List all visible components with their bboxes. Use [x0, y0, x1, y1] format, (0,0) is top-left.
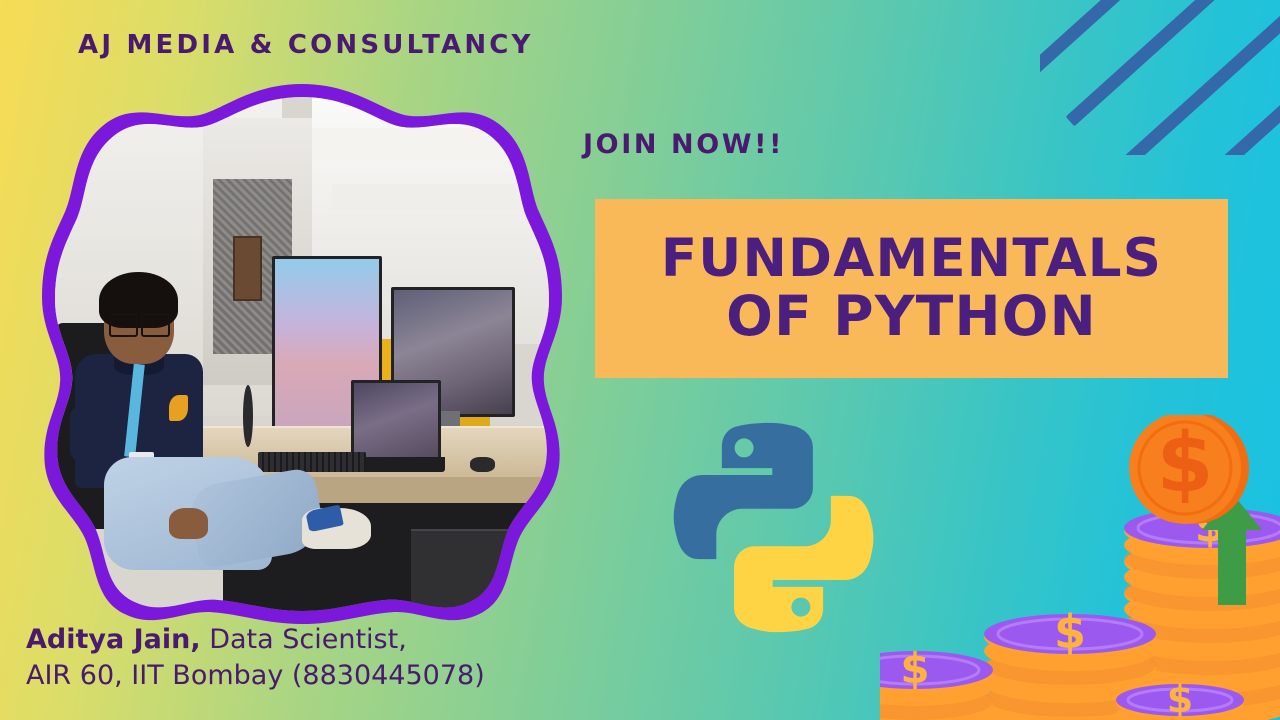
photo-image — [55, 97, 549, 611]
desk-drawer — [411, 529, 539, 611]
svg-text:$: $ — [1167, 677, 1193, 720]
coin-stack-icon: $ $ $ — [880, 415, 1280, 720]
office-ceiling-2 — [332, 184, 549, 210]
svg-text:$: $ — [1156, 416, 1213, 511]
stripe-line — [1124, 0, 1280, 155]
poster-canvas: AJ MEDIA & CONSULTANCY — [0, 0, 1280, 720]
brand-title: AJ MEDIA & CONSULTANCY — [78, 30, 534, 60]
keyboard — [258, 452, 367, 473]
stripe-line — [1040, 0, 1247, 86]
headline-line-2: OF PYTHON — [726, 287, 1097, 345]
presenter-credentials: Aditya Jain, Data Scientist, AIR 60, IIT… — [26, 622, 646, 693]
python-logo — [655, 410, 890, 645]
eyeglasses-right — [141, 313, 170, 338]
svg-text:$: $ — [900, 644, 929, 693]
join-now-label: JOIN NOW!! — [583, 129, 784, 160]
headline-banner: FUNDAMENTALS OF PYTHON — [595, 199, 1228, 378]
laptop-screen — [351, 380, 441, 463]
presenter-affiliation: AIR 60, IIT Bombay (8830445078) — [26, 658, 646, 694]
presenter-portrait — [42, 84, 562, 624]
person-foot — [169, 508, 209, 539]
coin-stack-left: $ — [880, 644, 993, 720]
big-dollar-coin: $ — [1129, 415, 1249, 524]
mouse — [470, 457, 495, 472]
office-scene — [55, 97, 549, 611]
cable — [243, 385, 253, 447]
svg-text:$: $ — [1054, 605, 1086, 659]
presenter-role: Data Scientist, — [201, 624, 407, 655]
wall-picture-frame — [233, 236, 262, 302]
headline-line-1: FUNDAMENTALS — [661, 231, 1162, 287]
eyeglasses-left — [109, 313, 138, 338]
stripe-line — [1240, 31, 1280, 155]
presenter-name: Aditya Jain, — [26, 624, 201, 655]
stripe-line — [1182, 0, 1280, 155]
stripe-line — [1066, 0, 1280, 126]
diagonal-stripes-icon — [1040, 0, 1280, 155]
